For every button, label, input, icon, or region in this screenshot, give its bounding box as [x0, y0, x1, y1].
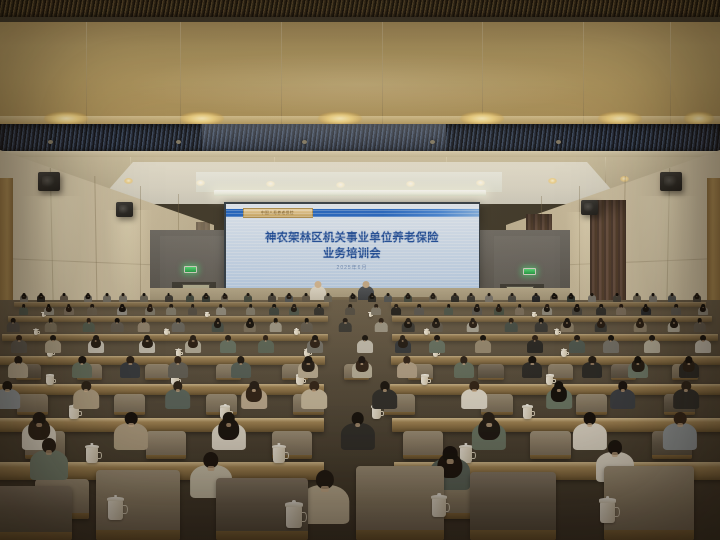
audience-member-neck	[447, 459, 454, 464]
ceiling-soffit	[196, 172, 502, 192]
audience-member-neck	[610, 340, 613, 342]
tea-cup-knob	[606, 496, 610, 499]
audience-member	[119, 293, 127, 302]
audience-member	[357, 335, 373, 354]
audience-member	[8, 356, 28, 380]
audience-member	[30, 438, 68, 483]
audience-member	[269, 304, 279, 316]
audience-member	[542, 304, 552, 316]
audience-member	[140, 293, 148, 302]
audience-member	[698, 304, 708, 316]
downlight	[336, 182, 345, 188]
audience-member	[494, 304, 504, 316]
audience-member	[19, 304, 29, 316]
audience-member-neck	[48, 307, 50, 308]
audience-member	[633, 293, 641, 302]
audience-member-neck	[226, 423, 232, 427]
audience-member	[391, 304, 401, 316]
audience-member-neck	[355, 423, 361, 427]
audience-member	[289, 304, 299, 316]
audience-member	[569, 335, 585, 354]
audience-member	[44, 304, 54, 316]
audience-member-torso	[371, 307, 381, 315]
audience-member	[168, 356, 188, 380]
audience-member-neck	[363, 340, 366, 342]
audience-member	[550, 293, 558, 302]
audience-member	[87, 304, 97, 316]
audience-member	[216, 304, 226, 316]
tea-cup-knob	[437, 493, 441, 496]
wall-speaker	[581, 200, 598, 215]
audience-member-neck	[314, 340, 317, 342]
audience-member	[649, 293, 657, 302]
audience-member	[429, 335, 445, 354]
chair-wood-base	[652, 455, 693, 459]
chair-wood-base	[96, 530, 180, 540]
audience-member	[532, 293, 540, 302]
audience-member-torso	[397, 362, 417, 378]
wall-speaker	[116, 202, 133, 217]
audience-member-torso	[375, 322, 388, 332]
audience-member	[37, 293, 45, 302]
audience-member	[535, 318, 548, 333]
audience-member	[88, 335, 104, 354]
audience-member-neck	[375, 307, 377, 308]
tea-cup-handle	[123, 505, 128, 514]
audience-member	[166, 304, 176, 316]
audience-member-torso	[19, 307, 29, 315]
audience-member-neck	[395, 307, 397, 308]
tea-cup-handle	[169, 331, 170, 334]
audience-member	[610, 381, 636, 411]
audience-member-neck	[264, 340, 267, 342]
downlight	[406, 181, 415, 187]
downlight	[196, 180, 205, 186]
audience-member	[103, 293, 111, 302]
audience-member-torso	[522, 362, 542, 378]
audience-member	[165, 381, 191, 411]
tea-cup	[523, 407, 532, 419]
slide-title-line-2: 业务培训会	[226, 246, 479, 262]
audience-member	[268, 293, 276, 302]
tea-cup-lid	[272, 445, 286, 449]
audience-member	[73, 381, 99, 411]
audience-member-torso	[137, 322, 150, 332]
audience-member	[212, 412, 246, 452]
slide-title-line-1: 神农架林区机关事业单位养老保险	[226, 230, 479, 246]
conference-hall-photo: 中国人寿养老保险 神农架林区机关事业单位养老保险 业务培训会 2025年6月	[0, 0, 720, 540]
audience-member	[485, 293, 493, 302]
audience-member-neck	[702, 307, 704, 308]
audience-member-torso	[7, 322, 20, 332]
audience-member-neck	[476, 307, 478, 308]
audience-member-neck	[677, 423, 683, 427]
audience-member	[475, 335, 491, 354]
projection-screen: 中国人寿养老保险 神农架林区机关事业单位养老保险 业务培训会 2025年6月	[224, 202, 480, 290]
audience-member-neck	[94, 340, 97, 342]
audience-member-torso	[300, 322, 313, 332]
audience-member-neck	[293, 307, 295, 308]
audience-member-torso	[82, 322, 95, 332]
audience-member	[634, 318, 647, 333]
audience-member	[454, 356, 474, 380]
audience-member-neck	[498, 307, 500, 308]
audience-member	[315, 304, 325, 316]
audience-member	[679, 356, 699, 380]
audience-member	[613, 293, 621, 302]
audience-member-torso	[315, 307, 325, 315]
audience-member-neck	[273, 307, 275, 308]
audience-member-neck	[149, 307, 151, 308]
audience-member-neck	[319, 307, 321, 308]
audience-member-torso	[188, 307, 198, 315]
tea-cup	[46, 376, 53, 385]
audience-member-neck	[620, 307, 622, 308]
audience-member	[202, 293, 210, 302]
audience-member-neck	[645, 307, 647, 308]
audience-member	[341, 412, 375, 452]
audience-member	[472, 412, 506, 452]
audience-member	[628, 356, 648, 380]
audience-member-neck	[122, 307, 124, 308]
tea-cup-handle	[428, 379, 430, 383]
audience-member	[241, 381, 267, 411]
audience-member	[508, 293, 516, 302]
audience-member	[82, 318, 95, 333]
slide-date: 2025年6月	[226, 264, 479, 271]
tea-cup-lid	[85, 445, 99, 449]
audience-member-torso	[535, 322, 548, 332]
audience-member	[165, 293, 173, 302]
downlight	[548, 178, 557, 184]
audience-member-torso	[596, 307, 606, 315]
chair-wood-base	[604, 530, 694, 540]
audience-member-torso	[671, 307, 681, 315]
audience-member	[231, 356, 251, 380]
tea-cup-handle	[38, 331, 39, 334]
audience-member	[221, 293, 229, 302]
audience-member	[693, 318, 706, 333]
audience-member-neck	[519, 307, 521, 308]
audience-member-neck	[401, 340, 404, 342]
audience-member-torso	[111, 322, 124, 332]
audience-chair	[604, 466, 694, 540]
tea-cup-lid	[546, 374, 554, 376]
audience-member-neck	[207, 466, 214, 471]
audience-desk	[0, 384, 324, 395]
audience-member	[186, 293, 194, 302]
tea-cup	[286, 506, 302, 528]
audience-member	[505, 318, 518, 333]
chair-wood-base	[145, 378, 170, 380]
tea-cup-handle	[381, 411, 384, 417]
slide-ribbon-label: 中国人寿养老保险	[261, 210, 294, 215]
audience-member-neck	[220, 307, 222, 308]
audience-member-neck	[448, 307, 450, 308]
audience-member	[668, 293, 676, 302]
chair-wood-base	[216, 531, 308, 540]
audience-member	[616, 304, 626, 316]
audience-member-neck	[36, 423, 42, 427]
ceiling-grille-middle	[0, 124, 720, 152]
audience-member-torso	[172, 322, 185, 332]
audience-member	[246, 304, 256, 316]
audience-member	[402, 318, 415, 333]
ceiling-grille-top	[0, 0, 720, 17]
slide-logo-ribbon: 中国人寿养老保险	[243, 208, 313, 218]
downlight	[476, 180, 485, 186]
audience-member-neck	[702, 340, 705, 342]
tea-cup-handle	[302, 512, 307, 522]
audience-member	[472, 304, 482, 316]
audience-member	[114, 412, 148, 452]
audience-member	[582, 356, 602, 380]
audience-member-neck	[23, 307, 25, 308]
audience-member	[603, 335, 619, 354]
tea-cup-handle	[98, 452, 102, 459]
audience-member	[324, 293, 332, 302]
audience-member	[546, 381, 572, 411]
audience-member	[45, 335, 61, 354]
audience-member-torso	[269, 322, 282, 332]
audience-member	[673, 381, 699, 411]
audience-member	[300, 318, 313, 333]
audience-member-neck	[587, 423, 593, 427]
audience-member-neck	[250, 307, 252, 308]
audience-member	[44, 318, 57, 333]
audience-member	[515, 304, 525, 316]
audience-member	[594, 318, 607, 333]
tea-cup-knob	[206, 312, 207, 313]
audience-member	[372, 381, 398, 411]
audience-member-neck	[576, 307, 578, 308]
exit-sign	[523, 268, 536, 275]
audience-member	[298, 356, 318, 380]
audience-member-neck	[650, 340, 653, 342]
audience-member-torso	[582, 362, 602, 378]
audience-member-torso	[616, 307, 626, 315]
presentation-slide: 中国人寿养老保险 神农架林区机关事业单位养老保险 业务培训会 2025年6月	[226, 204, 479, 289]
audience-member	[414, 304, 424, 316]
audience-member	[429, 293, 437, 302]
audience-member	[567, 293, 575, 302]
audience-member	[345, 304, 355, 316]
audience-member	[641, 304, 651, 316]
audience-member	[371, 304, 381, 316]
audience-member	[11, 335, 27, 354]
audience-member-neck	[226, 340, 229, 342]
audience-member-neck	[349, 307, 351, 308]
tea-cup-handle	[79, 411, 82, 417]
audience-member-neck	[192, 307, 194, 308]
chair-wood-base	[478, 378, 503, 380]
audience-member	[667, 318, 680, 333]
audience-member	[139, 335, 155, 354]
audience-member	[172, 318, 185, 333]
audience-member	[60, 293, 68, 302]
chair-wood-base	[530, 455, 571, 459]
audience-member	[188, 304, 198, 316]
audience-member	[84, 293, 92, 302]
chair-wood-base	[0, 532, 72, 540]
audience-member-neck	[192, 340, 195, 342]
audience-member	[120, 356, 140, 380]
audience-member	[467, 318, 480, 333]
audience-member-torso	[444, 307, 454, 315]
audience-member	[7, 318, 20, 333]
tea-cup	[86, 447, 99, 463]
audience-member	[522, 356, 542, 380]
audience-member	[211, 318, 224, 333]
audience-member-torso	[391, 307, 401, 315]
audience-member	[384, 293, 392, 302]
audience-member-neck	[68, 307, 70, 308]
tea-cup	[432, 498, 446, 517]
downlight	[266, 181, 275, 187]
tea-cup	[273, 447, 286, 463]
audience-member	[671, 304, 681, 316]
audience-member	[185, 335, 201, 354]
tea-cup	[108, 500, 123, 520]
audience-member	[644, 335, 660, 354]
audience-member-neck	[546, 307, 548, 308]
audience-member	[404, 293, 412, 302]
audience-member	[375, 318, 388, 333]
audience-chair	[145, 364, 170, 380]
audience-member	[302, 293, 310, 302]
audience-member	[572, 304, 582, 316]
audience-member-torso	[168, 362, 188, 378]
audience-member	[20, 293, 28, 302]
audience-member	[137, 318, 150, 333]
audience-member-neck	[675, 307, 677, 308]
audience-member	[145, 304, 155, 316]
audience-member-torso	[693, 322, 706, 332]
wall-speaker	[660, 172, 682, 191]
tea-cup-handle	[615, 507, 620, 517]
audience-member	[561, 318, 574, 333]
audience-member	[285, 293, 293, 302]
audience-member	[339, 318, 352, 333]
tea-cup-handle	[536, 314, 537, 316]
audience-member	[451, 293, 459, 302]
audience-member	[307, 335, 323, 354]
audience-chair	[470, 472, 556, 540]
chair-wood-base	[146, 455, 187, 459]
audience-member	[368, 293, 376, 302]
chair-wood-base	[384, 412, 416, 415]
audience-member-neck	[18, 340, 21, 342]
audience-member	[301, 381, 327, 411]
audience-member	[663, 412, 697, 452]
audience-member	[244, 293, 252, 302]
audience-member-neck	[482, 340, 485, 342]
audience-chair	[530, 431, 571, 459]
audience-member-torso	[505, 322, 518, 332]
chair-wood-base	[356, 530, 444, 540]
audience-member-torso	[515, 307, 525, 315]
audience-member	[111, 318, 124, 333]
slide-title: 神农架林区机关事业单位养老保险 业务培训会	[226, 230, 479, 263]
audience-chair	[478, 364, 503, 380]
audience-member	[244, 318, 257, 333]
audience-member	[258, 335, 274, 354]
audience-member	[352, 356, 372, 380]
audience-member	[693, 293, 701, 302]
audience-member-neck	[321, 486, 329, 492]
linear-light-fixture	[214, 190, 486, 196]
desk-edge-highlight	[391, 356, 720, 358]
audience-member-neck	[92, 307, 94, 308]
tea-cup-lid	[421, 374, 429, 376]
exit-sign	[184, 266, 197, 273]
audience-member	[117, 304, 127, 316]
tea-cup-knob	[114, 495, 118, 498]
audience-member-neck	[146, 340, 149, 342]
audience-member	[0, 381, 20, 411]
audience-member-torso	[87, 307, 97, 315]
tea-cup-handle	[54, 379, 56, 383]
audience-member-neck	[436, 340, 439, 342]
audience-member-neck	[576, 340, 579, 342]
audience-member-neck	[533, 340, 536, 342]
audience-member	[220, 335, 236, 354]
audience-member-torso	[339, 322, 352, 332]
audience-member-neck	[601, 307, 603, 308]
audience-member-torso	[0, 389, 20, 409]
wall-speaker	[38, 172, 60, 191]
audience-member	[588, 293, 596, 302]
downlight	[124, 178, 133, 184]
audience-member-torso	[454, 362, 474, 378]
audience-member-neck	[52, 340, 55, 342]
audience-chair	[146, 431, 187, 459]
audience-member	[527, 335, 543, 354]
chair-wood-base	[293, 412, 325, 415]
audience-member-torso	[269, 307, 279, 315]
audience-member-torso	[72, 362, 92, 378]
tea-cup-lid	[46, 374, 54, 376]
audience-member-torso	[216, 307, 226, 315]
audience-chair	[0, 486, 72, 540]
audience-member-neck	[170, 307, 172, 308]
chair-wood-base	[470, 530, 556, 540]
audience-member-torso	[345, 307, 355, 315]
audience-member-torso	[414, 307, 424, 315]
audience-member	[397, 356, 417, 380]
audience-member	[430, 318, 443, 333]
audience-member	[72, 356, 92, 380]
audience-member	[695, 335, 711, 354]
audience-member	[462, 381, 488, 411]
audience-member	[349, 293, 357, 302]
audience-member-neck	[128, 423, 134, 427]
audience-member-torso	[120, 362, 140, 378]
audience-member-torso	[166, 307, 176, 315]
audience-member-torso	[246, 307, 256, 315]
audience-member-torso	[8, 362, 28, 378]
audience-member	[269, 318, 282, 333]
audience-member-neck	[486, 423, 492, 427]
audience-member-torso	[44, 322, 57, 332]
audience-member	[596, 304, 606, 316]
audience-member-neck	[418, 307, 420, 308]
audience-member	[64, 304, 74, 316]
audience-chair	[356, 466, 444, 540]
tea-cup	[600, 502, 615, 523]
audience-member	[467, 293, 475, 302]
audience-member	[395, 335, 411, 354]
